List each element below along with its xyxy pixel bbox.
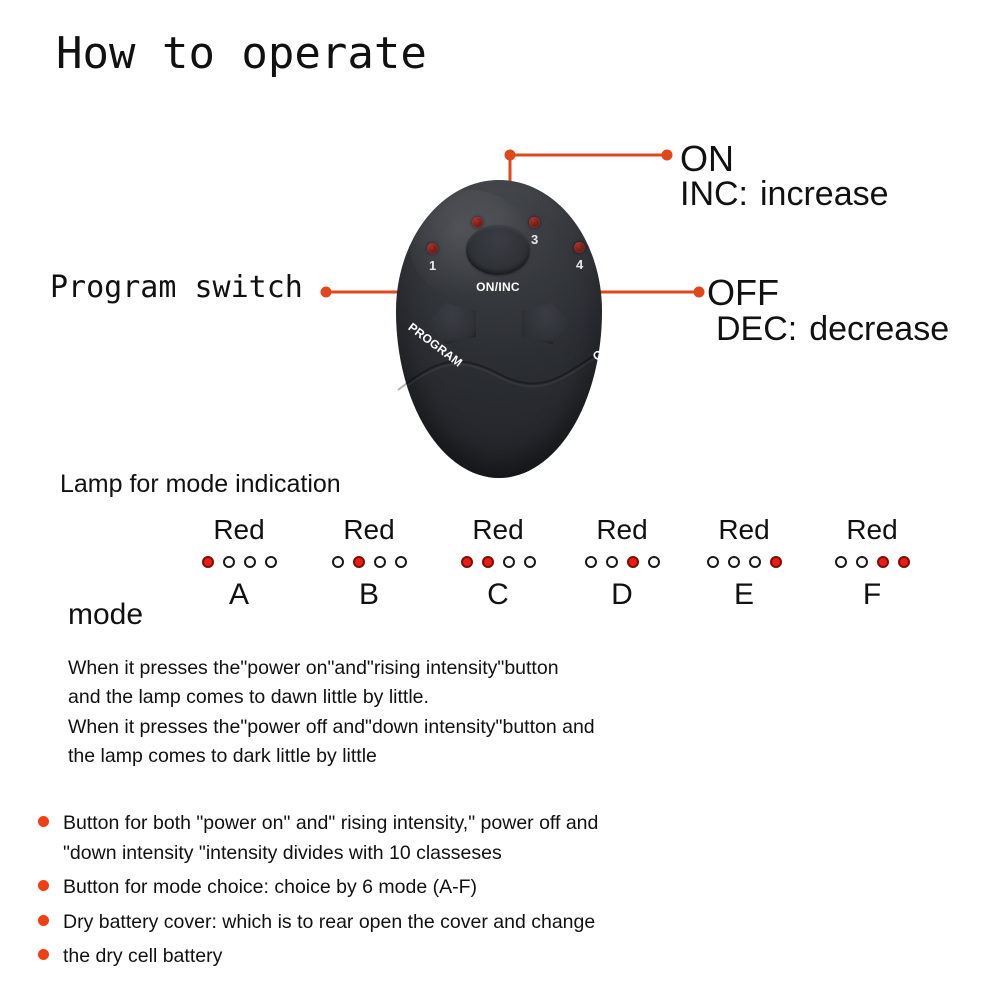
bullet-item: the dry cell battery [38, 941, 968, 971]
bullet-line: "down intensity "intensity divides with … [63, 838, 598, 868]
mode-column-a: RedA [174, 516, 304, 610]
led-indicator-3 [529, 217, 540, 228]
led-indicator-4 [574, 242, 585, 253]
description-line-2: and the lamp comes to dawn little by lit… [68, 687, 768, 707]
lamp-dot-4-off [265, 556, 277, 568]
bullet-item: Dry battery cover: which is to rear open… [38, 907, 968, 937]
callout-dec-value: decrease [809, 310, 949, 348]
operation-description: When it presses the"power on"and"rising … [68, 658, 768, 776]
bullet-dot-icon [38, 816, 49, 827]
mode-row-label: mode [68, 598, 143, 632]
callout-dec: DEC:decrease [716, 310, 949, 349]
bullet-line: Button for mode choice: choice by 6 mode… [63, 872, 477, 902]
bullet-item: Button for mode choice: choice by 6 mode… [38, 872, 968, 902]
callout-dec-key: DEC: [716, 310, 797, 348]
mode-letter: B [304, 580, 434, 610]
lamp-dot-2-on [482, 556, 494, 568]
lamp-dot-4-on [770, 556, 782, 568]
lamp-dot-4-off [648, 556, 660, 568]
lamp-dot-2-off [606, 556, 618, 568]
mode-color-label: Red [557, 516, 687, 544]
led-indicator-2 [472, 217, 483, 228]
lamp-dot-1-off [707, 556, 719, 568]
lamp-dot-3-off [503, 556, 515, 568]
mode-lamp-row [304, 556, 434, 568]
callout-inc-key: INC: [680, 175, 748, 213]
device-illustration: 1 2 3 4 ON/INC PROGRAM OFF/DEC [396, 180, 606, 480]
lamp-dot-4-on [898, 556, 910, 568]
description-line-4: the lamp comes to dark little by little [68, 746, 768, 766]
mode-column-b: RedB [304, 516, 434, 610]
on-inc-button[interactable] [466, 225, 530, 275]
mode-letter: E [679, 580, 809, 610]
how-to-operate-page: How to operate 1 2 3 4 [0, 0, 1000, 1000]
mode-color-label: Red [807, 516, 937, 544]
callout-inc: INC:increase [680, 175, 889, 214]
mode-column-e: RedE [679, 516, 809, 610]
lamp-dot-3-off [244, 556, 256, 568]
callout-inc-value: increase [760, 175, 889, 213]
led-number-4: 4 [576, 257, 583, 272]
bullet-text: the dry cell battery [63, 941, 222, 971]
lamp-dot-1-off [585, 556, 597, 568]
mode-letter: A [174, 580, 304, 610]
bullet-text: Button for both "power on" and" rising i… [63, 808, 598, 868]
bullet-dot-icon [38, 915, 49, 926]
mode-color-label: Red [174, 516, 304, 544]
bullet-dot-icon [38, 880, 49, 891]
bullet-item: Button for both "power on" and" rising i… [38, 808, 968, 868]
mode-color-label: Red [679, 516, 809, 544]
mode-lamp-row [174, 556, 304, 568]
callout-off: OFF [707, 272, 779, 314]
lamp-dot-3-off [374, 556, 386, 568]
mode-column-c: RedC [433, 516, 563, 610]
lamp-dot-2-off [728, 556, 740, 568]
bullet-line: Dry battery cover: which is to rear open… [63, 907, 595, 937]
lamp-dot-2-off [223, 556, 235, 568]
led-indicator-1 [427, 243, 438, 254]
lamp-dot-4-off [395, 556, 407, 568]
led-number-3: 3 [531, 232, 538, 247]
mode-column-f: RedF [807, 516, 937, 610]
lamp-dot-4-off [524, 556, 536, 568]
mode-lamp-row [807, 556, 937, 568]
lamp-dot-1-on [461, 556, 473, 568]
page-title: How to operate [56, 28, 427, 79]
lamp-dot-3-off [749, 556, 761, 568]
bullet-dot-icon [38, 949, 49, 960]
on-inc-button-label: ON/INC [458, 280, 538, 294]
feature-bullet-list: Button for both "power on" and" rising i… [38, 808, 968, 975]
lamp-dot-3-on [877, 556, 889, 568]
lamp-dot-2-on [353, 556, 365, 568]
lamp-dot-1-on [202, 556, 214, 568]
callout-on: ON [680, 138, 734, 180]
bullet-line: the dry cell battery [63, 941, 222, 971]
mode-letter: F [807, 580, 937, 610]
mode-color-label: Red [304, 516, 434, 544]
lamp-dot-3-on [627, 556, 639, 568]
description-line-3: When it presses the"power off and"down i… [68, 717, 768, 737]
mode-column-d: RedD [557, 516, 687, 610]
mode-lamp-row [433, 556, 563, 568]
mode-color-label: Red [433, 516, 563, 544]
bullet-line: Button for both "power on" and" rising i… [63, 808, 598, 838]
mode-lamp-row [679, 556, 809, 568]
led-number-1: 1 [429, 258, 436, 273]
lamp-section-heading: Lamp for mode indication [60, 470, 341, 499]
bullet-text: Button for mode choice: choice by 6 mode… [63, 872, 477, 902]
bullet-text: Dry battery cover: which is to rear open… [63, 907, 595, 937]
lamp-dot-2-off [856, 556, 868, 568]
lamp-dot-1-off [835, 556, 847, 568]
callout-program-switch: Program switch [50, 270, 303, 305]
mode-lamp-row [557, 556, 687, 568]
battery-cover-seam [396, 350, 602, 480]
mode-letter: D [557, 580, 687, 610]
lamp-dot-1-off [332, 556, 344, 568]
description-line-1: When it presses the"power on"and"rising … [68, 658, 768, 678]
mode-letter: C [433, 580, 563, 610]
